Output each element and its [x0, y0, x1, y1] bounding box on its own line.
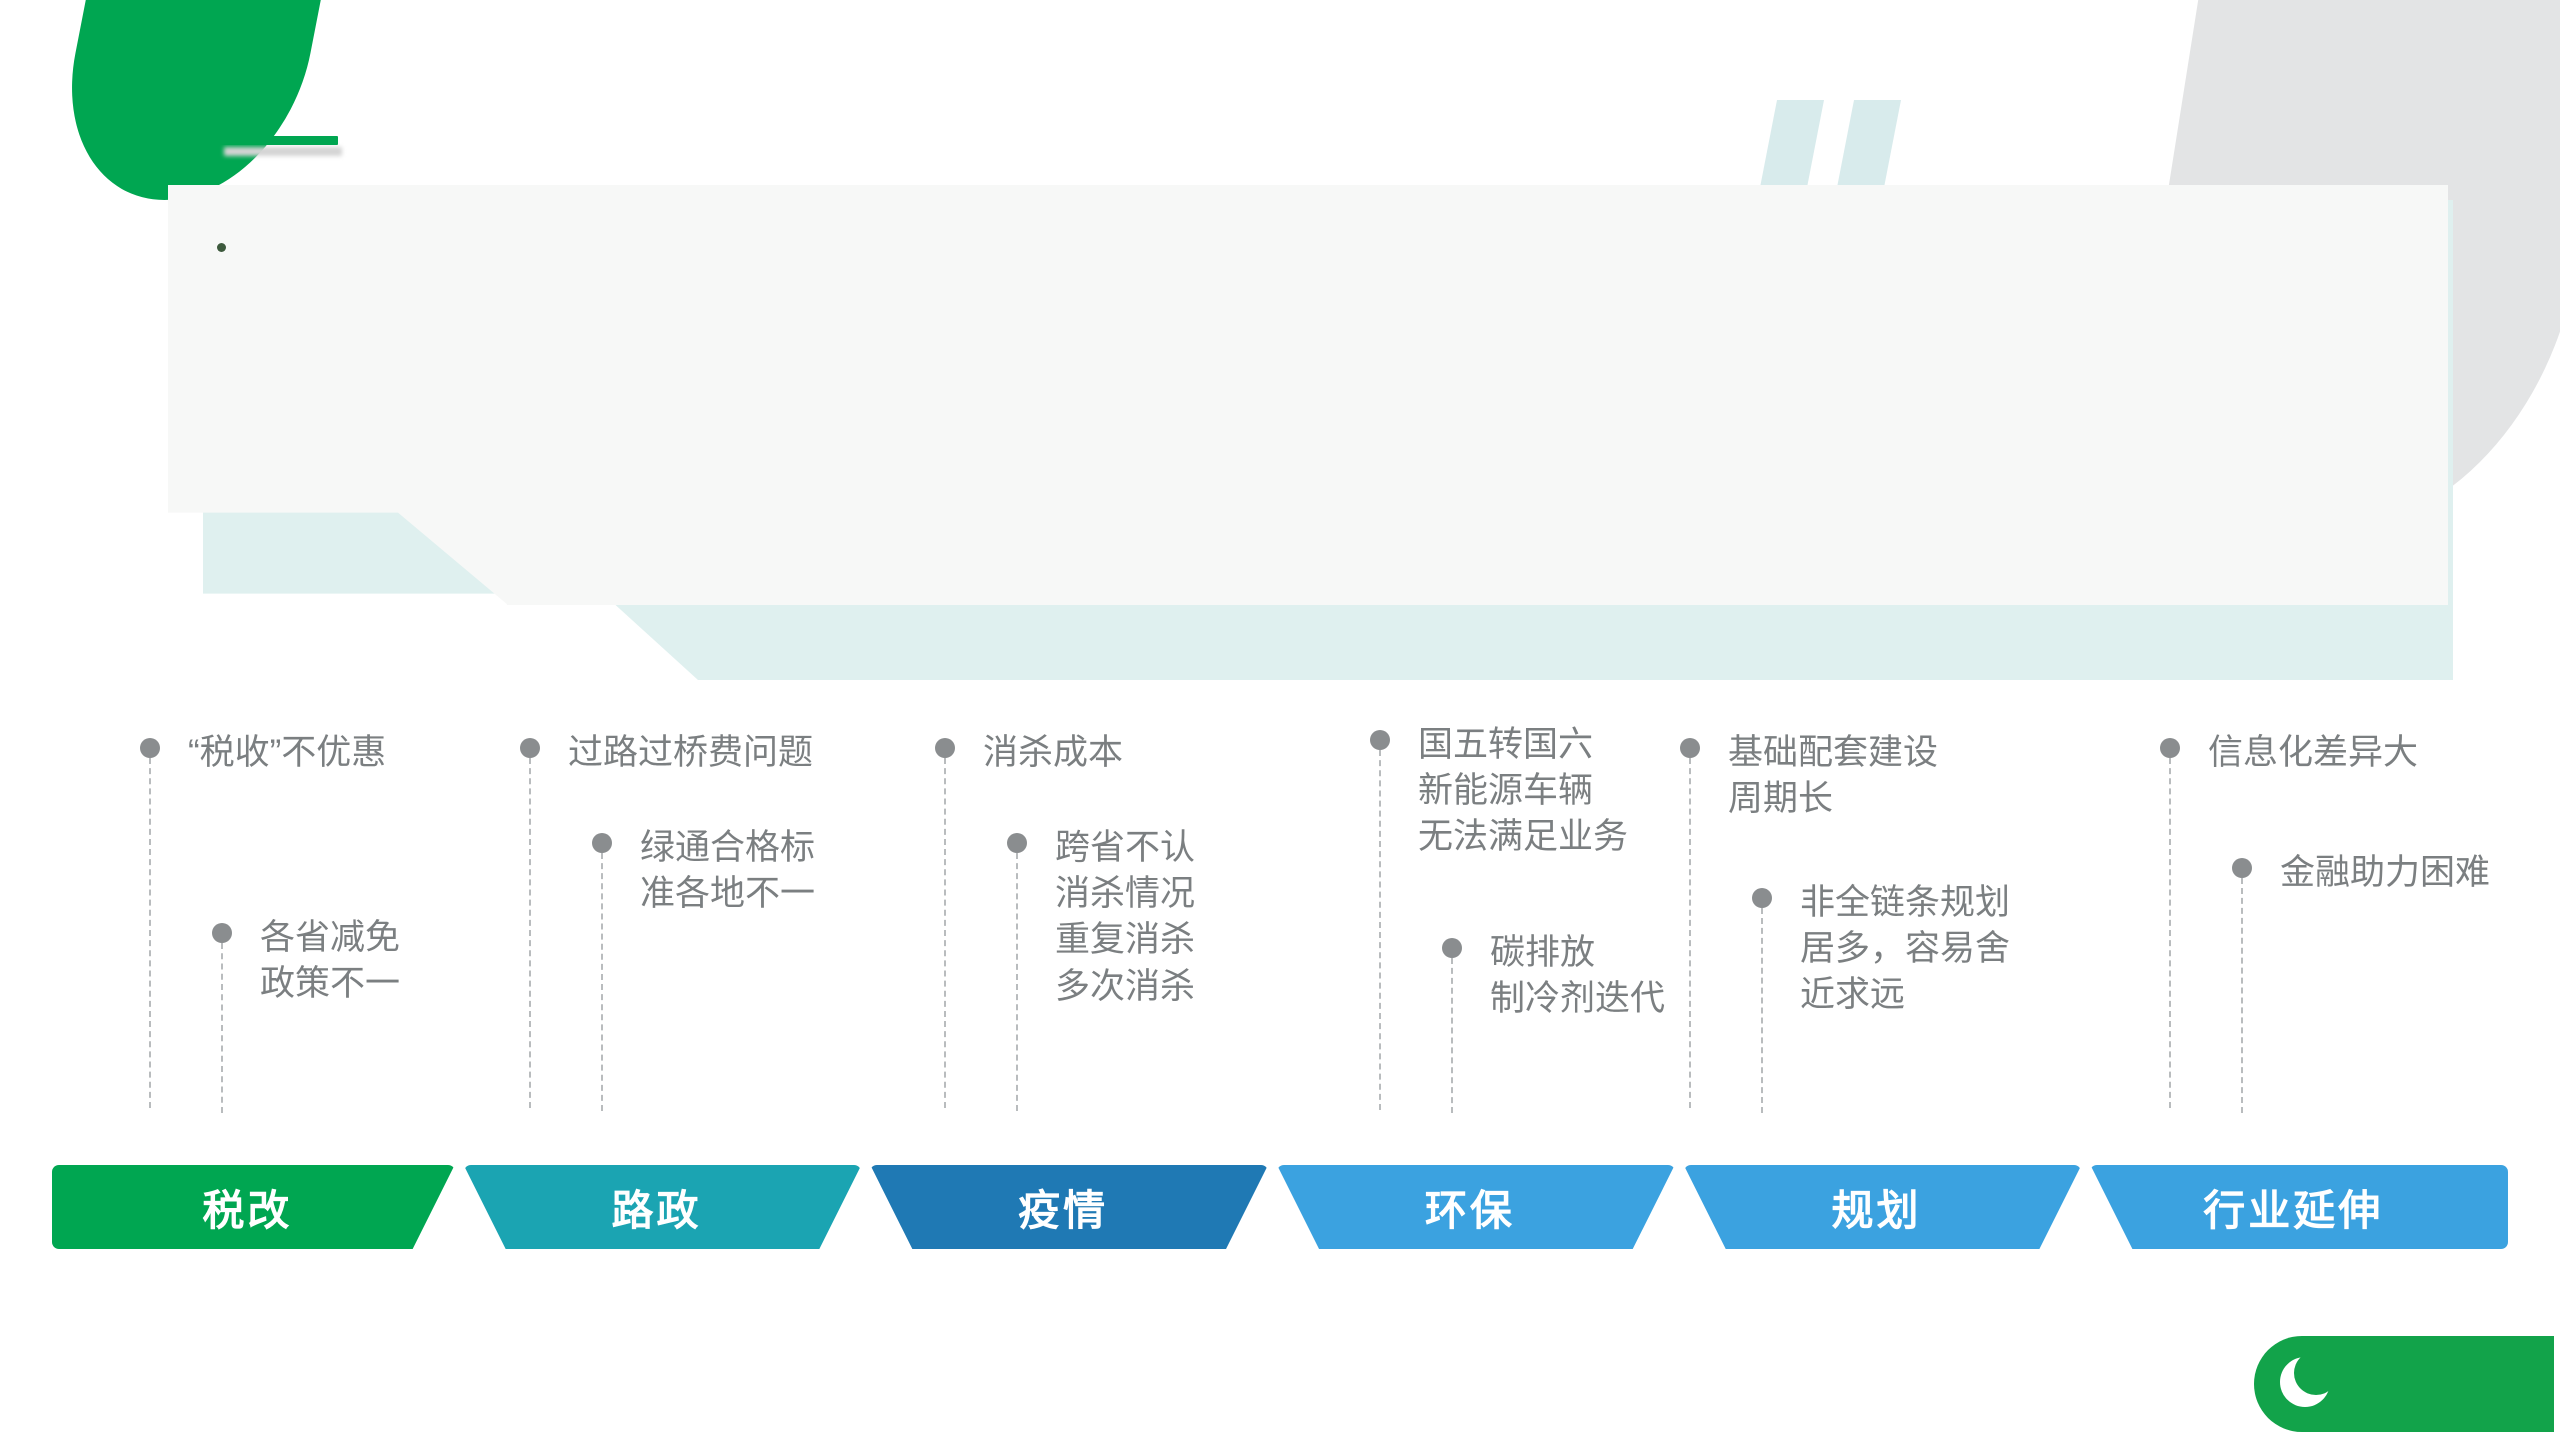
issue-node: “税收”不优惠 — [140, 730, 480, 776]
cflp-logo-icon — [2276, 1353, 2338, 1415]
issue-node-label: 国五转国六 新能源车辆 无法满足业务 — [1396, 722, 1700, 861]
slide-root: “税收”不优惠各省减免 政策不一过路过桥费问题绿通合格标 准各地不一消杀成本跨省… — [0, 0, 2560, 1440]
issue-node-stem — [2241, 878, 2243, 1113]
category-chevron-label: 路政 — [611, 1177, 701, 1238]
callout-content — [168, 185, 2448, 605]
category-chevron-5[interactable]: 规划 — [1684, 1165, 2082, 1249]
issue-node-label: 信息化差异大 — [2186, 730, 2490, 776]
issue-node-stem — [149, 758, 151, 1108]
title-underline-shadow — [224, 147, 342, 156]
issue-node-label: 非全链条规划 居多，容易舍 近求远 — [1778, 880, 2010, 1019]
issue-node: 碳排放 制冷剂迭代 — [1442, 930, 1700, 1022]
logo-text-block — [2346, 1383, 2530, 1385]
category-chevron-4[interactable]: 环保 — [1277, 1165, 1675, 1249]
issue-node: 消杀成本 — [935, 730, 1235, 776]
issue-node: 基础配套建设 周期长 — [1680, 730, 2010, 822]
category-chevron-1[interactable]: 税改 — [52, 1165, 455, 1249]
category-chevron-label: 环保 — [1425, 1177, 1515, 1238]
category-chevron-6[interactable]: 行业延伸 — [2090, 1165, 2508, 1249]
issue-node-stem — [1451, 958, 1453, 1113]
issue-node: 国五转国六 新能源车辆 无法满足业务 — [1370, 722, 1700, 861]
category-chevron-bar: 税改路政疫情环保规划行业延伸 — [52, 1165, 2508, 1249]
issue-node: 绿通合格标 准各地不一 — [592, 825, 860, 917]
issue-node-stem — [2169, 758, 2171, 1108]
category-chevron-label: 行业延伸 — [2203, 1177, 2383, 1238]
issue-node-label: 跨省不认 消杀情况 重复消杀 多次消杀 — [1033, 825, 1235, 1010]
category-chevron-3[interactable]: 疫情 — [870, 1165, 1268, 1249]
issue-node-label: 各省减免 政策不一 — [238, 915, 480, 1007]
issue-node-label: 过路过桥费问题 — [546, 730, 860, 776]
issue-node-stem — [1761, 908, 1763, 1113]
issue-node: 金融助力困难 — [2232, 850, 2490, 896]
issue-node: 信息化差异大 — [2160, 730, 2490, 776]
issue-node-stem — [1689, 758, 1691, 1108]
issue-columns: “税收”不优惠各省减免 政策不一过路过桥费问题绿通合格标 准各地不一消杀成本跨省… — [0, 700, 2560, 1170]
issue-node-label: 金融助力困难 — [2258, 850, 2490, 896]
issue-node-stem — [221, 943, 223, 1113]
issue-node: 跨省不认 消杀情况 重复消杀 多次消杀 — [1007, 825, 1235, 1010]
issue-node-label: 基础配套建设 周期长 — [1706, 730, 2010, 822]
issue-node-stem — [1379, 750, 1381, 1110]
category-chevron-label: 税改 — [202, 1177, 292, 1238]
issue-node-stem — [944, 758, 946, 1108]
issue-node: 各省减免 政策不一 — [212, 915, 480, 1007]
issue-node-label: 消杀成本 — [961, 730, 1235, 776]
category-chevron-2[interactable]: 路政 — [464, 1165, 862, 1249]
callout-bullet-icon — [190, 221, 252, 605]
footer-logo — [2254, 1336, 2554, 1432]
issue-node-stem — [1016, 853, 1018, 1111]
issue-node: 过路过桥费问题 — [520, 730, 860, 776]
issue-node-stem — [529, 758, 531, 1108]
issue-node-stem — [601, 853, 603, 1111]
title-underline — [220, 136, 338, 145]
issue-node-label: 碳排放 制冷剂迭代 — [1468, 930, 1700, 1022]
callout-paragraph — [252, 221, 2388, 605]
issue-node-label: 绿通合格标 准各地不一 — [618, 825, 860, 917]
decor-green-blob — [47, 0, 344, 200]
category-chevron-label: 规划 — [1832, 1177, 1922, 1238]
category-chevron-label: 疫情 — [1018, 1177, 1108, 1238]
issue-node-label: “税收”不优惠 — [166, 730, 480, 776]
issue-node: 非全链条规划 居多，容易舍 近求远 — [1752, 880, 2010, 1019]
